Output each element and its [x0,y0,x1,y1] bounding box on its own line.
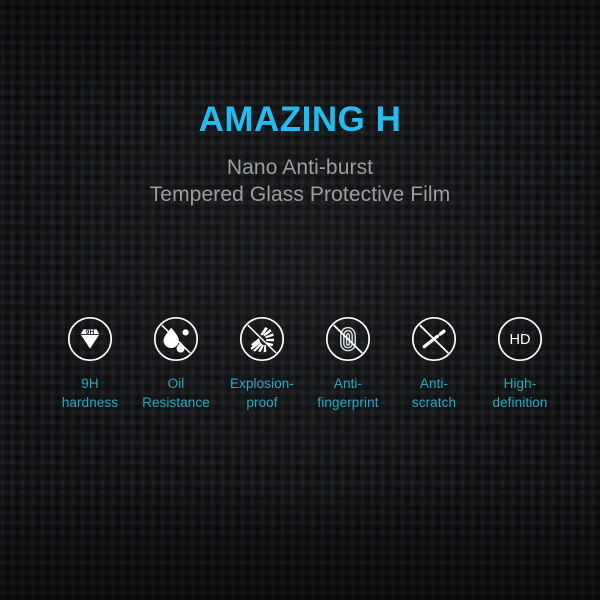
subtitle: Nano Anti-burst Tempered Glass Protectiv… [0,140,600,208]
feature-label-anti-scratch: Anti- scratch [412,374,456,412]
headline-block: AMAZING H Nano Anti-burst Tempered Glass… [0,100,600,208]
feature-label-line-2: fingerprint [317,393,378,412]
svg-text:9H: 9H [86,329,95,336]
fingerprint-blocked-icon [325,316,371,362]
feature-item-anti-fingerprint: Anti- fingerprint [305,316,391,412]
hd-icon: HD [497,316,543,362]
product-feature-poster: AMAZING H Nano Anti-burst Tempered Glass… [0,0,600,600]
feature-item-high-definition: HD High- definition [477,316,563,412]
feature-label-line-1: Anti- [317,374,378,393]
page-title: AMAZING H [0,100,600,140]
subtitle-line-1: Nano Anti-burst [0,154,600,181]
feature-item-anti-scratch: Anti- scratch [391,316,477,412]
feature-label-line-1: High- [492,374,547,393]
feature-label-line-2: Resistance [142,393,210,412]
feature-label-line-1: Anti- [412,374,456,393]
feature-label-explosion-proof: Explosion- proof [230,374,294,412]
feature-label-line-1: Oil [142,374,210,393]
feature-item-9h-hardness: 9H 9H hardness [47,316,133,412]
knife-blocked-icon [411,316,457,362]
feature-list: 9H 9H hardness Oil Resistance [47,316,563,412]
poster-content: AMAZING H Nano Anti-burst Tempered Glass… [0,0,600,600]
feature-label-line-2: definition [492,393,547,412]
feature-label-line-2: scratch [412,393,456,412]
feature-item-explosion-proof: Explosion- proof [219,316,305,412]
feature-label-9h-hardness: 9H hardness [62,374,118,412]
feature-label-line-1: 9H [62,374,118,393]
feature-label-oil-resistance: Oil Resistance [142,374,210,412]
feature-label-line-2: proof [230,393,294,412]
feature-label-high-definition: High- definition [492,374,547,412]
feature-label-anti-fingerprint: Anti- fingerprint [317,374,378,412]
feature-label-line-1: Explosion- [230,374,294,393]
subtitle-line-2: Tempered Glass Protective Film [0,181,600,208]
feature-label-line-2: hardness [62,393,118,412]
feature-item-oil-resistance: Oil Resistance [133,316,219,412]
oil-droplets-icon [153,316,199,362]
shattered-glass-icon [239,316,285,362]
diamond-9h-icon: 9H [67,316,113,362]
hd-badge-text: HD [510,332,531,348]
